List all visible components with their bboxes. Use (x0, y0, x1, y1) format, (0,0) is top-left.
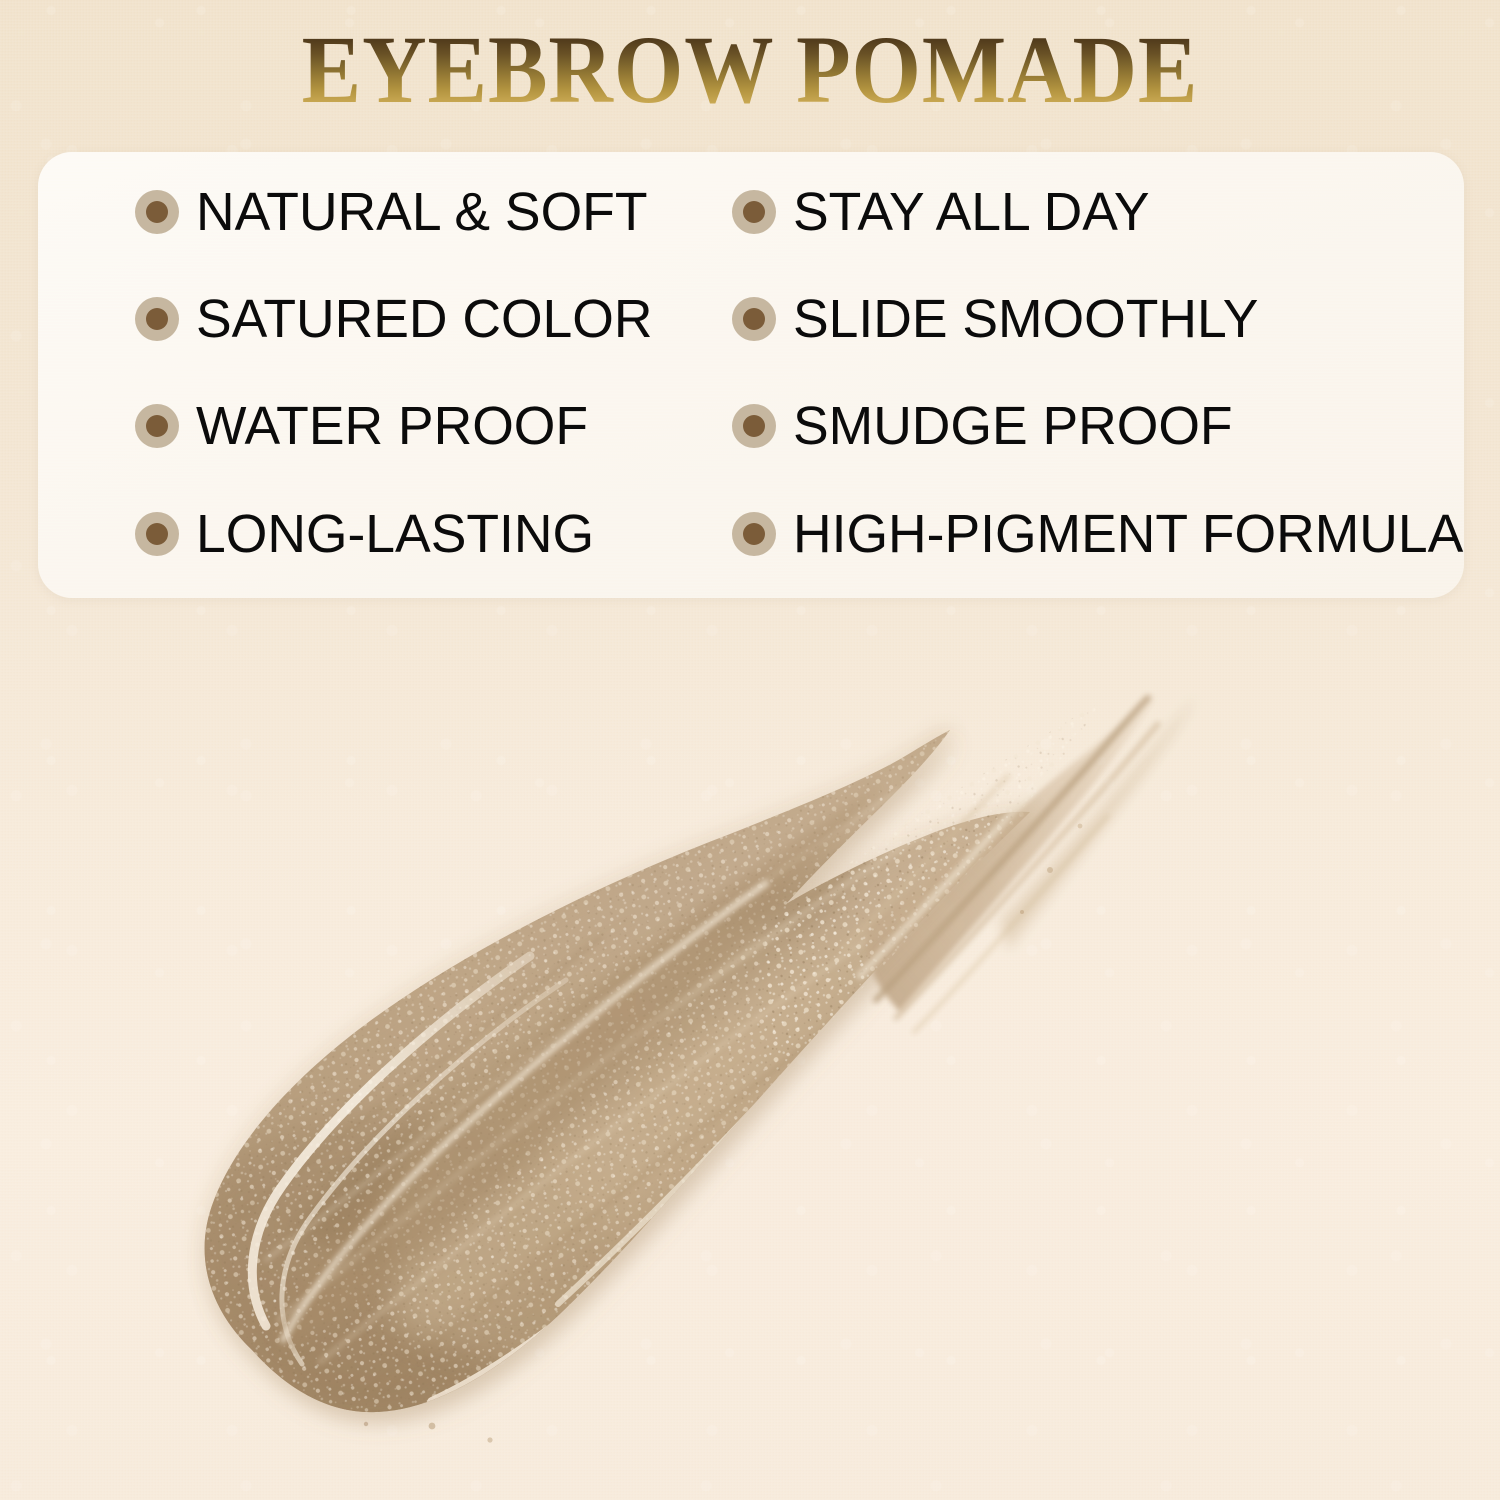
feature-item-high-pigment-formula: HIGH-PIGMENT FORMULA (732, 504, 1470, 564)
feature-item-long-lasting: LONG-LASTING (135, 504, 598, 564)
feature-item-satured-color: SATURED COLOR (135, 289, 657, 349)
feature-label: SATURED COLOR (196, 292, 652, 346)
product-feature-poster: EYEBROW POMADE NATURAL & SOFT SATURED CO… (0, 0, 1500, 1500)
bullet-dot-icon (135, 404, 179, 448)
feature-item-slide-smoothly: SLIDE SMOOTHLY (732, 289, 1263, 349)
bullet-dot-icon (732, 297, 776, 341)
feature-item-stay-all-day: STAY ALL DAY (732, 182, 1153, 242)
feature-grid: NATURAL & SOFT SATURED COLOR WATER PROOF… (38, 152, 1464, 598)
bullet-dot-icon (135, 297, 179, 341)
bullet-dot-icon (135, 512, 179, 556)
feature-label: WATER PROOF (196, 399, 588, 453)
bullet-dot-icon (732, 190, 776, 234)
feature-label: STAY ALL DAY (793, 185, 1150, 239)
bullet-dot-icon (732, 512, 776, 556)
feature-item-water-proof: WATER PROOF (135, 396, 592, 456)
feature-label: SLIDE SMOOTHLY (793, 292, 1258, 346)
feature-label: SMUDGE PROOF (793, 399, 1233, 453)
feature-label: HIGH-PIGMENT FORMULA (793, 507, 1463, 561)
bullet-dot-icon (732, 404, 776, 448)
feature-label: LONG-LASTING (196, 507, 594, 561)
smear-illustration (170, 620, 1300, 1480)
pomade-cream-smear (170, 620, 1300, 1480)
feature-item-smudge-proof: SMUDGE PROOF (732, 396, 1237, 456)
feature-list-card: NATURAL & SOFT SATURED COLOR WATER PROOF… (38, 152, 1464, 598)
page-title: EYEBROW POMADE (53, 22, 1448, 118)
bullet-dot-icon (135, 190, 179, 234)
feature-label: NATURAL & SOFT (196, 185, 647, 239)
feature-item-natural-and-soft: NATURAL & SOFT (135, 182, 652, 242)
